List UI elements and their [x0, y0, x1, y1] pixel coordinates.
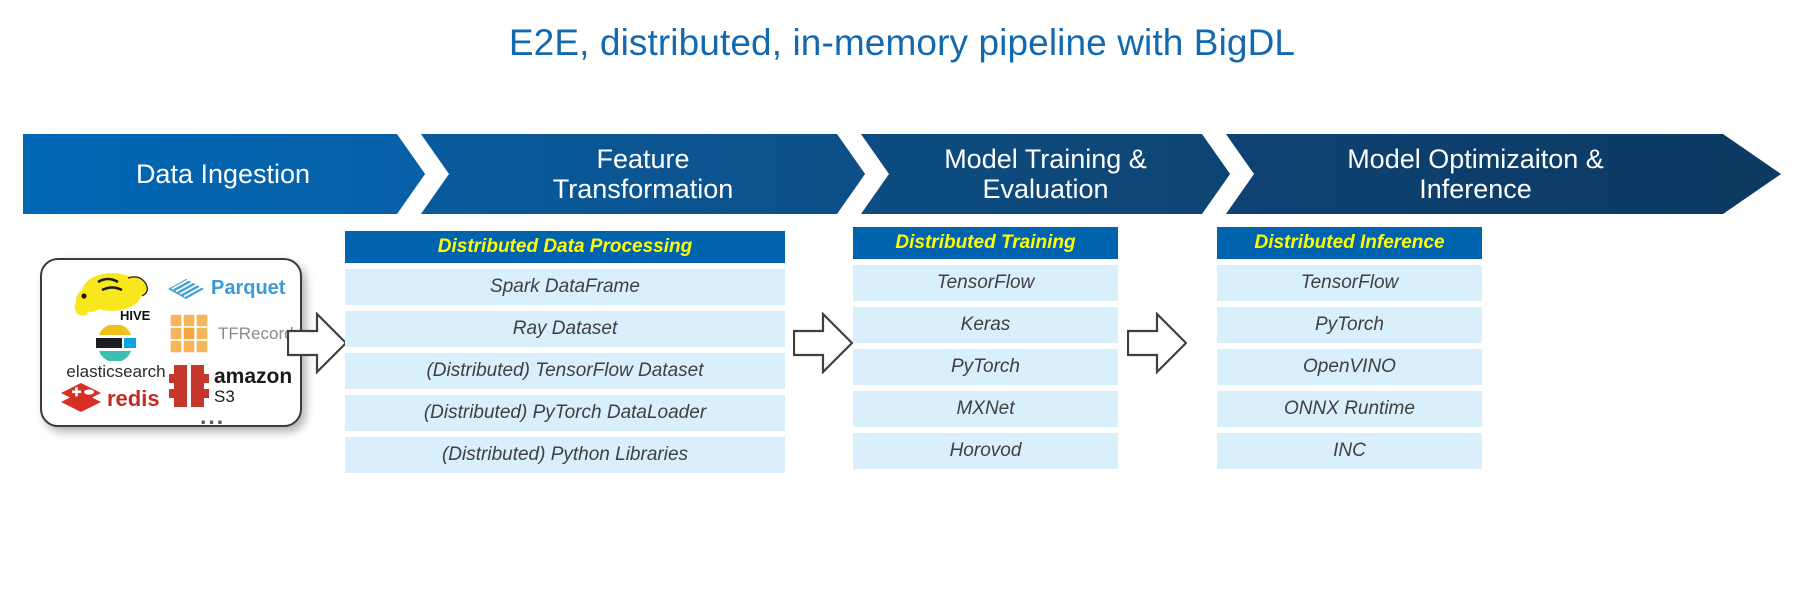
table-row[interactable]: PyTorch: [853, 349, 1118, 385]
banner-stage-label: Model Optimizaiton & Inference: [1347, 144, 1604, 204]
elasticsearch-logo: elasticsearch: [52, 322, 180, 384]
parquet-logo: Parquet: [164, 270, 292, 306]
amazon-s3-sublabel: S3: [214, 388, 292, 406]
table-header: Distributed Inference: [1217, 227, 1482, 259]
amazon-s3-logo: amazon S3: [166, 360, 298, 412]
table-row[interactable]: (Distributed) TensorFlow Dataset: [345, 353, 785, 389]
table-row[interactable]: Ray Dataset: [345, 311, 785, 347]
banner-stage-model-optimization[interactable]: Model Optimizaiton & Inference: [1228, 134, 1723, 214]
banner-arrow-head: [1723, 134, 1781, 214]
tfrecord-logo: TFRecord: [164, 308, 296, 360]
table-row[interactable]: OpenVINO: [1217, 349, 1482, 385]
banner-stage-model-training[interactable]: Model Training & Evaluation: [863, 134, 1228, 214]
svg-text:HIVE: HIVE: [120, 308, 151, 323]
table-header: Distributed Training: [853, 227, 1118, 259]
table-distributed-training: Distributed Training TensorFlow Keras Py…: [853, 227, 1118, 469]
banner-stage-label: Data Ingestion: [136, 159, 310, 189]
banner-stage-label: Model Training & Evaluation: [944, 144, 1147, 204]
flow-arrow-1: [287, 312, 347, 374]
flow-arrow-2: [793, 312, 853, 374]
table-row[interactable]: INC: [1217, 433, 1482, 469]
flow-arrow-3: [1127, 312, 1187, 374]
table-row[interactable]: Horovod: [853, 433, 1118, 469]
slide-canvas: E2E, distributed, in-memory pipeline wit…: [0, 0, 1804, 601]
table-row[interactable]: TensorFlow: [1217, 265, 1482, 301]
banner-stage-data-ingestion[interactable]: Data Ingestion: [23, 134, 423, 214]
banner-stage-label: Feature Transformation: [553, 144, 734, 204]
table-row[interactable]: (Distributed) PyTorch DataLoader: [345, 395, 785, 431]
parquet-label: Parquet: [211, 277, 285, 300]
table-row[interactable]: TensorFlow: [853, 265, 1118, 301]
hive-logo: HIVE: [68, 268, 164, 324]
table-header: Distributed Data Processing: [345, 231, 785, 263]
table-row[interactable]: (Distributed) Python Libraries: [345, 437, 785, 473]
table-distributed-inference: Distributed Inference TensorFlow PyTorch…: [1217, 227, 1482, 469]
data-source-card[interactable]: HIVE Parquet: [40, 258, 302, 427]
table-row[interactable]: MXNet: [853, 391, 1118, 427]
table-row[interactable]: Keras: [853, 307, 1118, 343]
table-distributed-data-processing: Distributed Data Processing Spark DataFr…: [345, 231, 785, 473]
redis-label: redis: [107, 386, 160, 412]
table-row[interactable]: PyTorch: [1217, 307, 1482, 343]
amazon-label: amazon: [214, 366, 292, 388]
ellipsis-label: ...: [200, 403, 225, 428]
table-row[interactable]: ONNX Runtime: [1217, 391, 1482, 427]
tfrecord-label: TFRecord: [218, 324, 294, 344]
redis-logo: redis: [58, 378, 178, 420]
page-title: E2E, distributed, in-memory pipeline wit…: [0, 22, 1804, 64]
pipeline-banner: Data Ingestion Feature Transformation Mo…: [23, 134, 1781, 214]
ellipsis-more-sources: ...: [200, 406, 244, 426]
table-row[interactable]: Spark DataFrame: [345, 269, 785, 305]
banner-stage-feature-transformation[interactable]: Feature Transformation: [423, 134, 863, 214]
